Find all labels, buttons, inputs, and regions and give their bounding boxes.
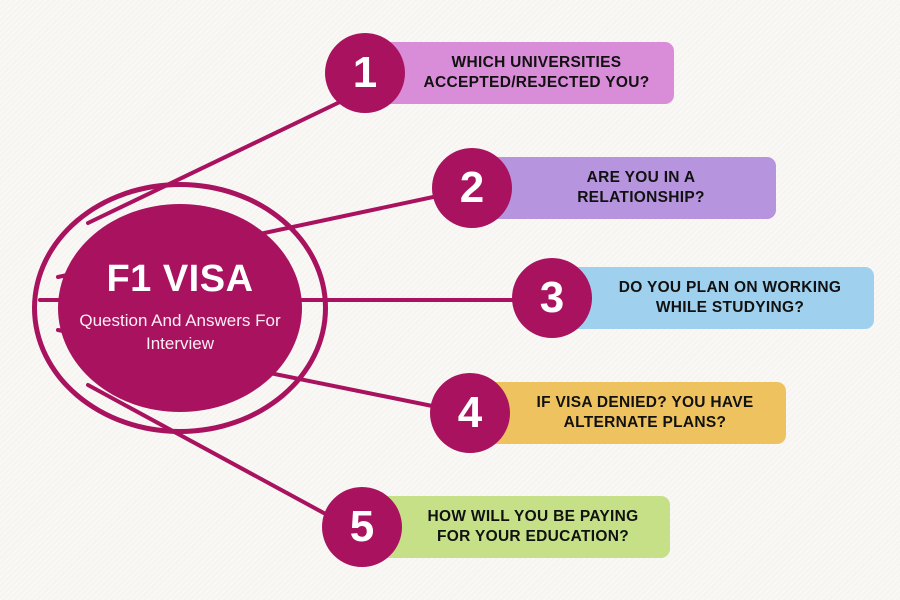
item-bar[interactable]: ARE YOU IN A RELATIONSHIP? [486, 157, 776, 219]
item-number-badge: 2 [432, 148, 512, 228]
item-number-badge: 1 [325, 33, 405, 113]
hub-subtitle: Question And Answers For Interview [58, 310, 302, 356]
item-label: ARE YOU IN A RELATIONSHIP? [577, 168, 705, 208]
item-label: WHICH UNIVERSITIES ACCEPTED/REJECTED YOU… [424, 53, 650, 93]
item-label: IF VISA DENIED? YOU HAVE ALTERNATE PLANS… [536, 393, 753, 433]
list-item[interactable]: 3 DO YOU PLAN ON WORKING WHILE STUDYING? [512, 258, 874, 338]
hub-disc: F1 VISA Question And Answers For Intervi… [58, 204, 302, 412]
item-number-badge: 3 [512, 258, 592, 338]
item-label: HOW WILL YOU BE PAYING FOR YOUR EDUCATIO… [428, 507, 639, 547]
central-hub: F1 VISA Question And Answers For Intervi… [32, 182, 328, 434]
item-bar[interactable]: WHICH UNIVERSITIES ACCEPTED/REJECTED YOU… [379, 42, 674, 104]
list-item[interactable]: 5 HOW WILL YOU BE PAYING FOR YOUR EDUCAT… [322, 487, 670, 567]
list-item[interactable]: 2 ARE YOU IN A RELATIONSHIP? [432, 148, 776, 228]
item-label: DO YOU PLAN ON WORKING WHILE STUDYING? [619, 278, 841, 318]
list-item[interactable]: 1 WHICH UNIVERSITIES ACCEPTED/REJECTED Y… [325, 33, 674, 113]
item-number-badge: 5 [322, 487, 402, 567]
hub-title: F1 VISA [106, 260, 253, 298]
infographic-canvas: F1 VISA Question And Answers For Intervi… [0, 0, 900, 600]
item-bar[interactable]: IF VISA DENIED? YOU HAVE ALTERNATE PLANS… [484, 382, 786, 444]
list-item[interactable]: 4 IF VISA DENIED? YOU HAVE ALTERNATE PLA… [430, 373, 786, 453]
item-bar[interactable]: HOW WILL YOU BE PAYING FOR YOUR EDUCATIO… [376, 496, 670, 558]
item-number-badge: 4 [430, 373, 510, 453]
item-bar[interactable]: DO YOU PLAN ON WORKING WHILE STUDYING? [566, 267, 874, 329]
